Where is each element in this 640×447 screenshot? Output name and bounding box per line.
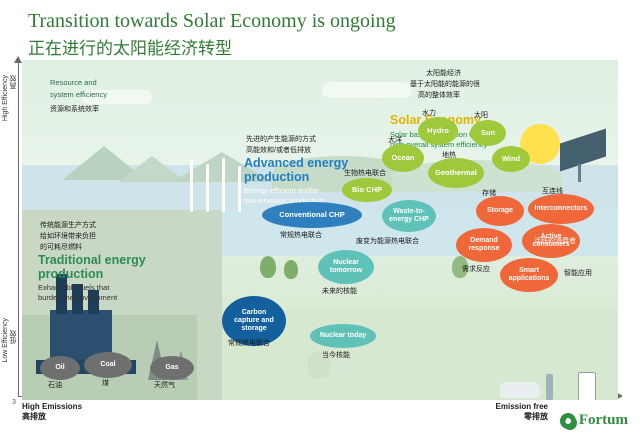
resource-cn: 资源和系统效率: [50, 104, 99, 114]
page-title-en: Transition towards Solar Economy is ongo…: [28, 10, 396, 33]
bubble-storage-cn: 存储: [482, 188, 496, 198]
bubble-coal-cn: 煤: [102, 378, 109, 388]
bubble-demand-response[interactable]: Demand response: [456, 228, 512, 262]
smartphone: [578, 372, 596, 400]
traditional-sub2: burden the environment: [38, 293, 117, 303]
traditional-cn-1: 传统能源生产方式: [40, 220, 96, 230]
wind-turbine-2: [206, 164, 209, 212]
bubble-conventional-chp[interactable]: Conventional CHP: [262, 202, 362, 228]
traditional-title-1: Traditional energy: [38, 253, 146, 267]
bubble-interconnectors-label: Interconnectors: [535, 205, 588, 213]
page-title-cn: 正在进行的太阳能经济转型: [28, 34, 232, 59]
electric-car: [500, 382, 540, 398]
y-axis-label-low-en: Low Efficiency: [2, 318, 11, 363]
bubble-waste-to-energy-chp-label: Waste-to- energy CHP: [389, 208, 429, 223]
tree-1: [260, 256, 276, 278]
bubble-sun-cn: 太阳: [474, 110, 488, 120]
cloud-2: [322, 82, 412, 98]
y-axis-arrow: [14, 56, 22, 63]
bubble-smart-applications-label: Smart applications: [509, 267, 550, 282]
bubble-storage-label: Storage: [487, 207, 513, 215]
bubble-nuclear-today[interactable]: Nuclear today: [310, 324, 376, 348]
bubble-hydro-cn: 水力: [422, 108, 436, 118]
wind-turbine-4: [238, 166, 241, 212]
bubble-ocean[interactable]: Ocean: [382, 144, 424, 172]
bubble-bio-chp-cn: 生物热电联合: [344, 168, 386, 178]
bubble-nuclear-tomorrow-label: Nuclear tomorrow: [330, 259, 362, 274]
x-axis-left-cn: 高排放: [22, 412, 82, 422]
wind-turbine-1: [190, 160, 193, 212]
bubble-conventional-chp-label: Conventional CHP: [279, 211, 344, 219]
solar-economy-cn-1: 太阳能经济: [426, 68, 461, 78]
bubble-conventional-chp-cn: 常规热电联合: [280, 230, 322, 240]
diagram-canvas: Solar Economy 太阳能经济 基于太阳能的能源的很 高的整体效率 So…: [22, 60, 618, 400]
bubble-storage[interactable]: Storage: [476, 196, 524, 226]
solar-economy-cn-2: 基于太阳能的能源的很: [410, 79, 480, 89]
bubble-interconnectors-cn: 互连线: [542, 186, 563, 196]
advanced-title-1: Advanced energy: [244, 156, 348, 170]
advanced-title-2: production: [244, 170, 309, 184]
bubble-coal-label: Coal: [100, 361, 115, 369]
bubble-waste-to-energy-chp[interactable]: Waste-to- energy CHP: [382, 200, 436, 232]
x-axis-right-cn: 零排放: [496, 412, 548, 422]
fortum-wordmark: Fortum: [579, 412, 628, 429]
bubble-geothermal-label: Geothermal: [435, 169, 477, 177]
bubble-smart-applications-cn: 智能应用: [564, 268, 592, 278]
solar-economy-cn-3: 高的整体效率: [418, 90, 460, 100]
bubble-carbon-capture-label: Carbon capture and storage: [234, 309, 274, 332]
bubble-interconnectors[interactable]: Interconnectors: [528, 194, 594, 224]
bubble-wind[interactable]: Wind: [492, 146, 530, 172]
advanced-sub1: Energy efficient and/or: [244, 186, 319, 196]
bubble-oil[interactable]: Oil: [40, 356, 80, 380]
bubble-gas-cn: 天然气: [154, 380, 175, 390]
page-number: 3: [12, 399, 16, 406]
bubble-waste-to-energy-chp-cn: 废变为能源热电联合: [356, 236, 419, 246]
bubble-active-consumers-cn: 活跃的消费者: [534, 236, 576, 246]
bubble-ocean-label: Ocean: [392, 154, 415, 162]
bubble-ocean-cn: 大洋: [388, 135, 402, 145]
bubble-nuclear-today-label: Nuclear today: [320, 332, 366, 340]
y-axis-label-high-en: High Efficiency: [2, 75, 11, 121]
bubble-sun-label: Sun: [481, 129, 495, 137]
traditional-cn-2: 给如环境带来负担: [40, 231, 96, 241]
bubble-gas[interactable]: Gas: [150, 356, 194, 380]
bubble-hydro[interactable]: Hydro: [418, 117, 458, 145]
y-axis-line: [18, 62, 19, 396]
bubble-bio-chp[interactable]: Bio CHP: [342, 178, 392, 202]
advanced-cn-2: 高能效和/或者低排放: [246, 145, 311, 155]
wind-turbine-3: [222, 158, 225, 212]
traditional-cn-3: 的可耗尽燃料: [40, 242, 82, 252]
y-axis-label-high-cn: 高效: [10, 75, 19, 89]
x-axis-left-en: High Emissions: [22, 402, 82, 412]
x-axis-left-label: High Emissions 高排放: [22, 402, 82, 423]
advanced-cn-1: 先进的产生能源的方式: [246, 134, 316, 144]
bubble-geothermal[interactable]: Geothermal: [428, 158, 484, 188]
tree-2: [284, 260, 298, 279]
bubble-hydro-label: Hydro: [427, 127, 449, 135]
traditional-title-2: production: [38, 267, 103, 281]
bubble-gas-label: Gas: [165, 364, 178, 372]
bubble-demand-response-cn: 需求反应: [462, 264, 490, 274]
charging-station: [546, 374, 553, 400]
x-axis-right-en: Emission free: [496, 402, 548, 412]
bubble-sun[interactable]: Sun: [470, 120, 506, 146]
bubble-wind-label: Wind: [502, 155, 520, 163]
resource-line-1: Resource and: [50, 78, 97, 88]
bubble-coal[interactable]: Coal: [84, 352, 132, 378]
slide-root: Transition towards Solar Economy is ongo…: [0, 0, 640, 447]
bubble-nuclear-tomorrow-cn: 未来的核能: [322, 286, 357, 296]
bubble-geothermal-cn: 地热: [442, 150, 456, 160]
x-axis-right-label: Emission free 零排放: [496, 402, 548, 423]
bubble-nuclear-today-cn: 当今核能: [322, 350, 350, 360]
bubble-smart-applications[interactable]: Smart applications: [500, 258, 558, 292]
bubble-oil-label: Oil: [55, 364, 64, 372]
bubble-bio-chp-label: Bio CHP: [352, 186, 382, 194]
bubble-oil-cn: 石油: [48, 380, 62, 390]
bubble-carbon-capture-cn: 常规热电联合: [228, 338, 270, 348]
solar-panel-pole: [578, 164, 581, 182]
bubble-nuclear-tomorrow[interactable]: Nuclear tomorrow: [318, 250, 374, 284]
bubble-demand-response-label: Demand response: [468, 237, 499, 252]
fortum-logo: Fortum: [560, 412, 628, 429]
resource-line-2: system efficiency: [50, 90, 107, 100]
traditional-sub1: Exhaustible fuels that: [38, 283, 109, 293]
y-axis-label-low-cn: 低效: [10, 330, 19, 344]
fortum-mark-icon: [560, 413, 576, 429]
